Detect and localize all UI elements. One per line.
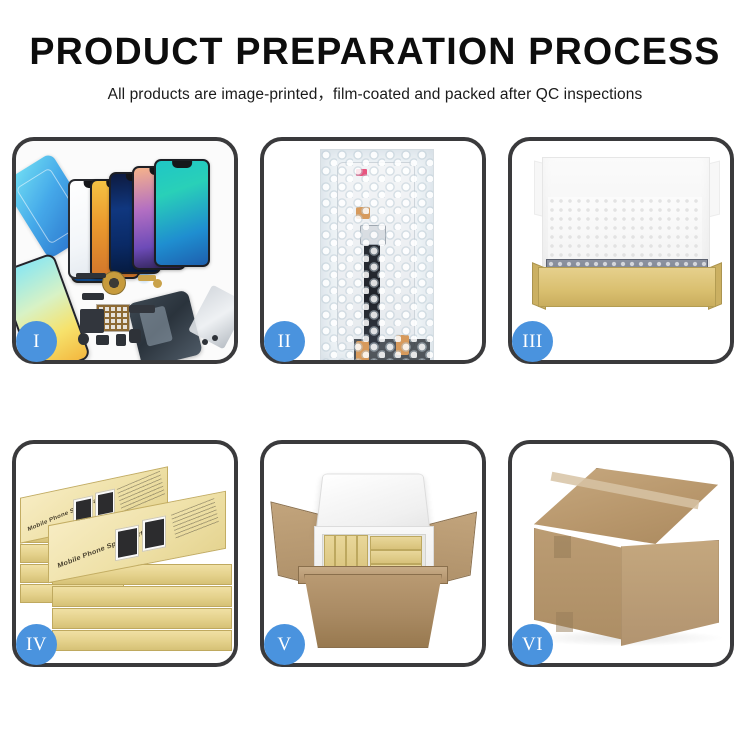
process-step-5: V bbox=[260, 440, 486, 667]
flex-cable-graphic bbox=[80, 309, 104, 333]
page-subtitle: All products are image-printed，film-coat… bbox=[0, 73, 750, 104]
process-step-3: III bbox=[508, 137, 734, 364]
spare-part-graphic bbox=[78, 333, 89, 345]
spare-part-graphic bbox=[129, 329, 141, 343]
retail-box bbox=[52, 608, 232, 629]
carton-tab-graphic bbox=[554, 536, 571, 558]
spare-part-graphic bbox=[96, 335, 109, 345]
step-badge-5: V bbox=[264, 624, 305, 665]
step-badge-3: III bbox=[512, 321, 553, 362]
box-spec-text-graphic bbox=[171, 498, 219, 539]
spare-part-graphic bbox=[76, 273, 106, 278]
bubble-wrap-bag-graphic bbox=[320, 149, 434, 360]
process-step-4: Mobile Phone Spare Parts Mobile Phone Sp… bbox=[12, 440, 238, 667]
retail-box bbox=[52, 630, 232, 651]
box-artwork-screen bbox=[142, 515, 166, 552]
kraft-tray-graphic bbox=[538, 267, 716, 307]
phone-screen-graphic-1 bbox=[154, 159, 210, 267]
screw-graphic bbox=[202, 339, 208, 345]
spare-part-graphic bbox=[82, 293, 104, 300]
box-stack-graphic: Mobile Phone Spare Parts Mobile Phone Sp… bbox=[20, 472, 234, 652]
header: PRODUCT PREPARATION PROCESS All products… bbox=[0, 0, 750, 104]
step-badge-6: VI bbox=[512, 624, 553, 665]
screw-graphic bbox=[212, 335, 218, 341]
spare-part-graphic bbox=[153, 279, 162, 288]
phone-notch-icon bbox=[172, 161, 192, 168]
step-badge-4: IV bbox=[16, 624, 57, 665]
step-badge-1: I bbox=[16, 321, 57, 362]
flex-cable-graphic bbox=[129, 305, 155, 313]
retail-box bbox=[52, 586, 232, 607]
page-title: PRODUCT PREPARATION PROCESS bbox=[4, 0, 747, 73]
process-step-grid: I bbox=[12, 137, 738, 667]
step-badge-2: II bbox=[264, 321, 305, 362]
carton-tab-graphic bbox=[556, 612, 573, 632]
retail-box-in-carton bbox=[370, 550, 422, 564]
sealed-carton-front-graphic bbox=[534, 528, 624, 640]
process-step-1: I bbox=[12, 137, 238, 364]
process-step-2: II bbox=[260, 137, 486, 364]
carton-body-graphic bbox=[304, 574, 442, 648]
spare-part-graphic bbox=[116, 334, 126, 346]
box-artwork-screen bbox=[115, 525, 139, 562]
product-preparation-infographic: PRODUCT PREPARATION PROCESS All products… bbox=[0, 0, 750, 750]
bubble-texture-graphic bbox=[321, 150, 433, 360]
retail-box-in-carton bbox=[370, 536, 422, 550]
process-step-6: VI bbox=[508, 440, 734, 667]
